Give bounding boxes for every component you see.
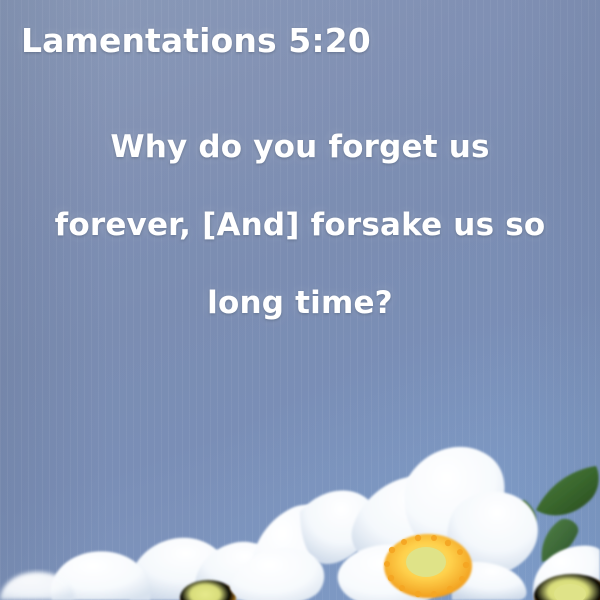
verse-line-1: Why do you forget us xyxy=(26,108,574,186)
verse-line-2: forever, [And] forsake us so xyxy=(26,186,574,264)
verse-line-3: long time? xyxy=(26,264,574,342)
verse-reference: Lamentations 5:20 xyxy=(21,21,371,60)
verse-image-canvas: Lamentations 5:20 Why do you forget us f… xyxy=(0,0,600,600)
verse-text-block: Why do you forget us forever, [And] fors… xyxy=(0,108,600,342)
